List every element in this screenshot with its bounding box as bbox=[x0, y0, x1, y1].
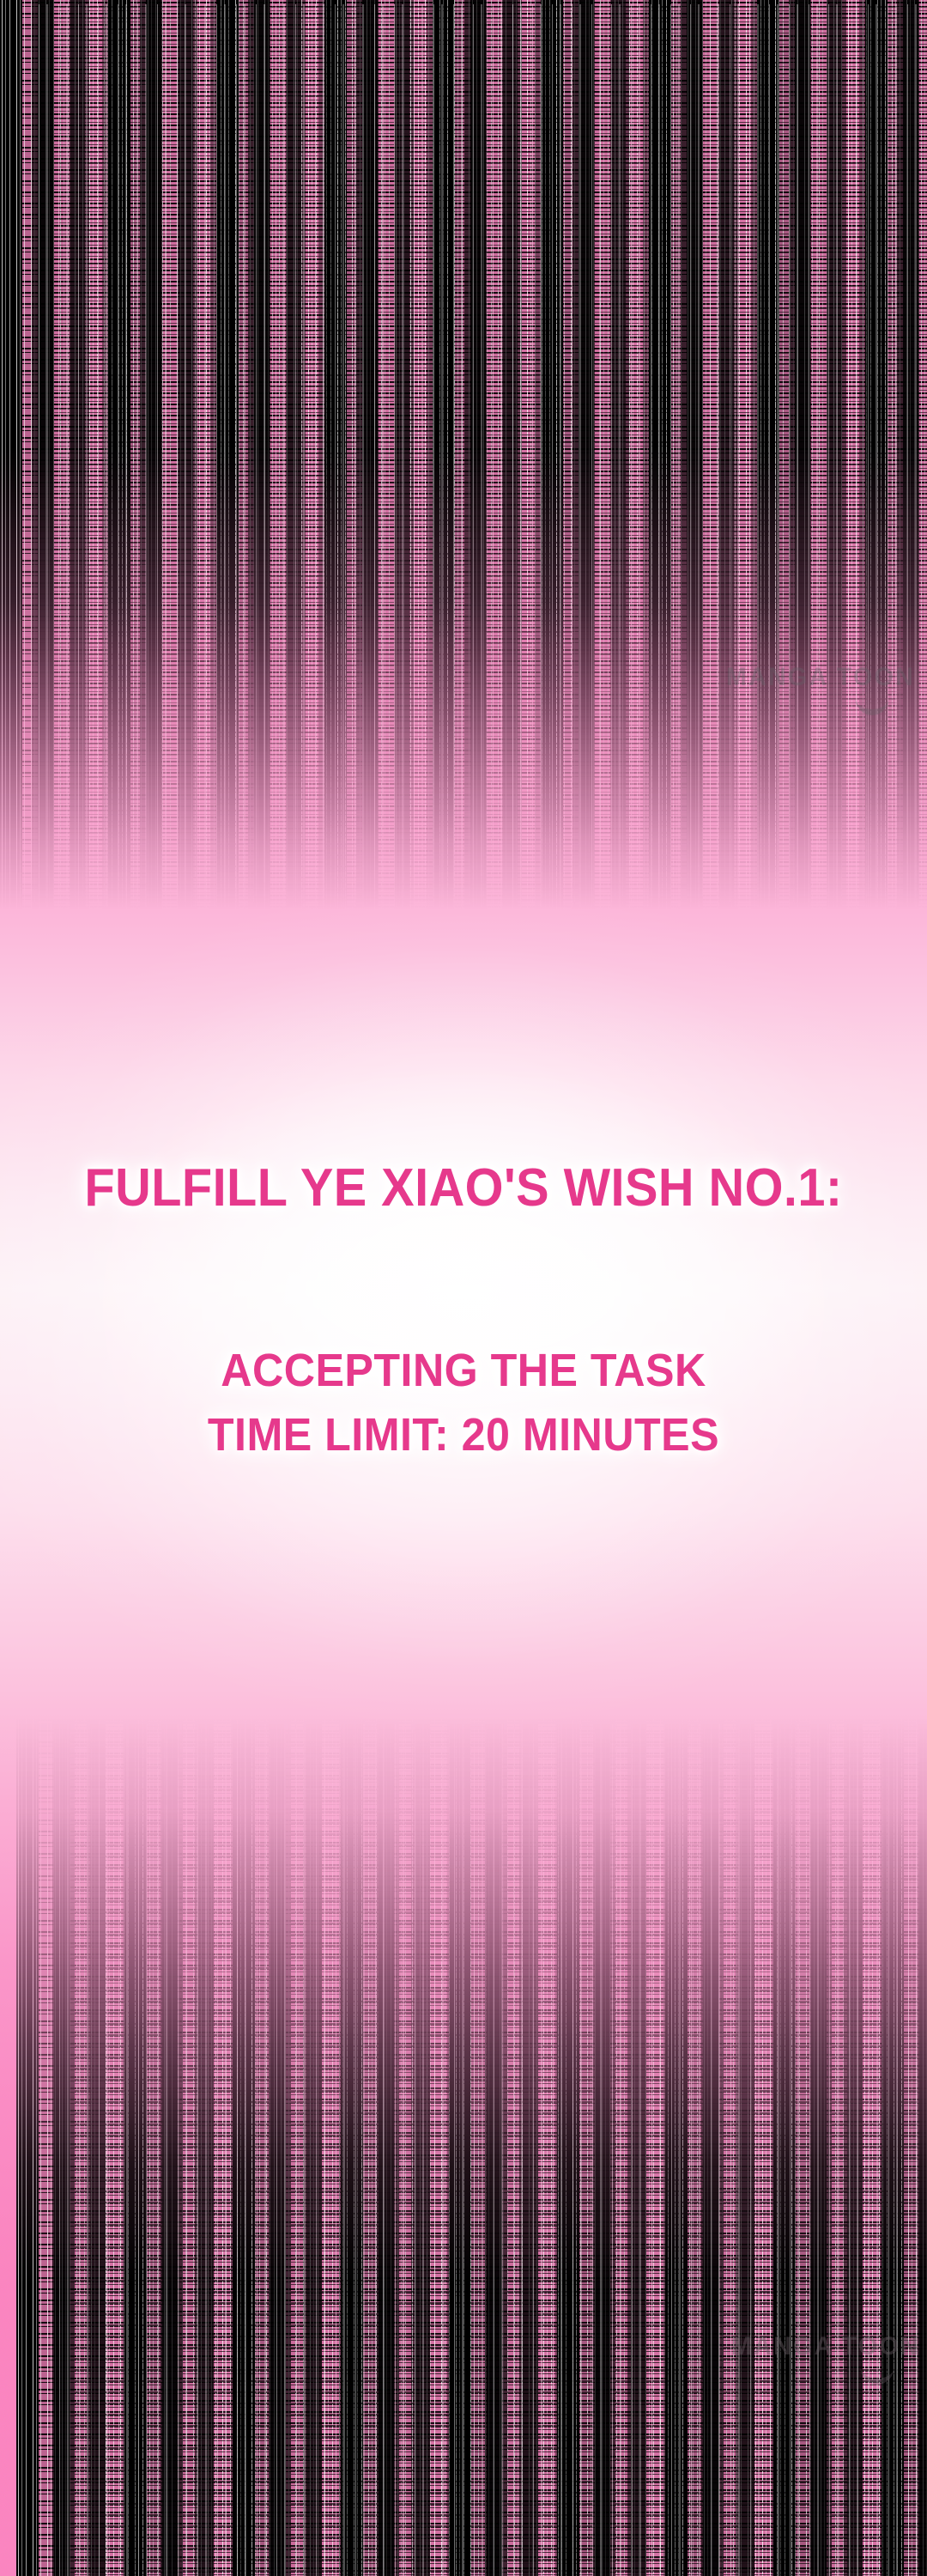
watermark-bottom-label: MANGA TOON bbox=[731, 2332, 920, 2360]
watermark-top: MANGA TOON bbox=[726, 663, 915, 692]
caption-line-task-status: ACCEPTING THE TASK bbox=[33, 1344, 894, 1397]
caption-line-wish-title: FULFILL YE XIAO'S WISH NO.1: bbox=[33, 1158, 894, 1218]
caption-line-time-limit: TIME LIMIT: 20 MINUTES bbox=[33, 1408, 894, 1461]
watermark-bottom: MANGA TOON bbox=[731, 2332, 920, 2361]
watermark-top-label: MANGA TOON bbox=[726, 663, 915, 691]
comic-panel: FULFILL YE XIAO'S WISH NO.1: ACCEPTING T… bbox=[0, 0, 927, 2576]
